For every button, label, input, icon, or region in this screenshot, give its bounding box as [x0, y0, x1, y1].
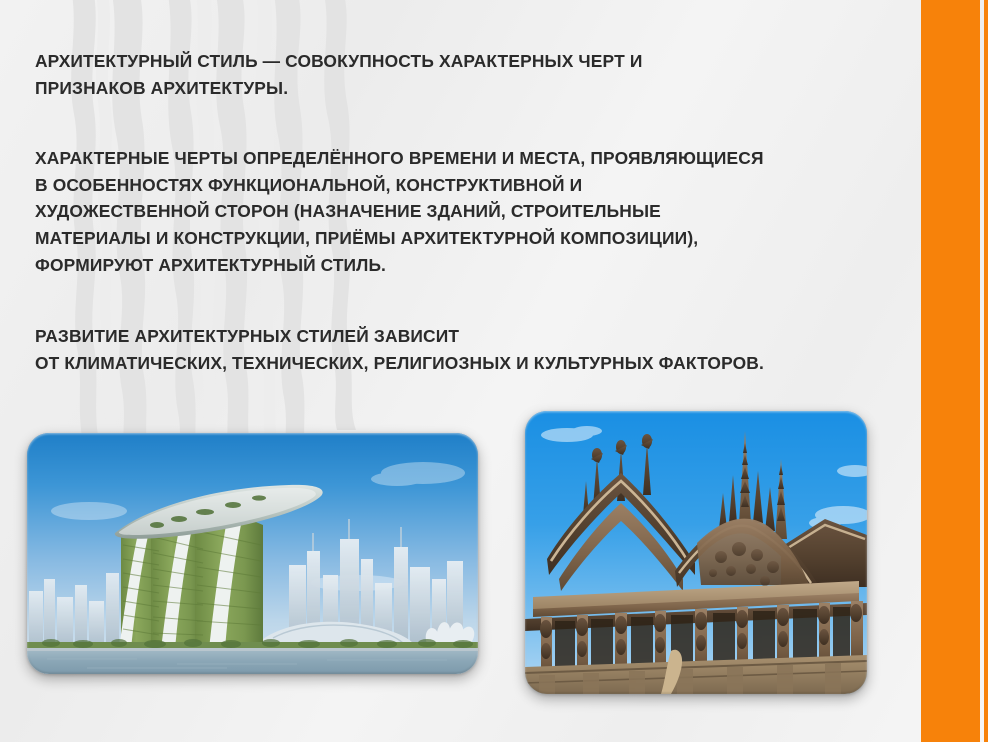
slide-text-block: АРХИТЕКТУРНЫЙ СТИЛЬ — СОВОКУПНОСТЬ ХАРАК… — [35, 48, 915, 376]
paragraph-characteristics: ХАРАКТЕРНЫЕ ЧЕРТЫ ОПРЕДЕЛЁННОГО ВРЕМЕНИ … — [35, 145, 915, 278]
paragraph-characteristics-part-2: . — [381, 255, 386, 275]
paragraph-characteristics-part-1: ХАРАКТЕРНЫЕ ЧЕРТЫ ОПРЕДЕЛЁННОГО ВРЕМЕНИ … — [35, 148, 764, 274]
slide-canvas: АРХИТЕКТУРНЫЙ СТИЛЬ — СОВОКУПНОСТЬ ХАРАК… — [0, 0, 988, 742]
orange-thin-stripe — [984, 0, 988, 742]
sanctuary-of-truth-photo — [525, 411, 867, 694]
paragraph-definition: АРХИТЕКТУРНЫЙ СТИЛЬ — СОВОКУПНОСТЬ ХАРАК… — [35, 48, 915, 101]
orange-vertical-band — [921, 0, 980, 742]
paragraph-factors: РАЗВИТИЕ АРХИТЕКТУРНЫХ СТИЛЕЙ ЗАВИСИТ ОТ… — [35, 323, 915, 376]
term-architectural-style-1: АРХИТЕКТУРНЫЙ СТИЛЬ — [35, 51, 258, 71]
term-architectural-style-2: АРХИТЕКТУРНЫЙ СТИЛЬ — [158, 255, 381, 275]
marina-bay-sands-photo — [27, 433, 478, 674]
